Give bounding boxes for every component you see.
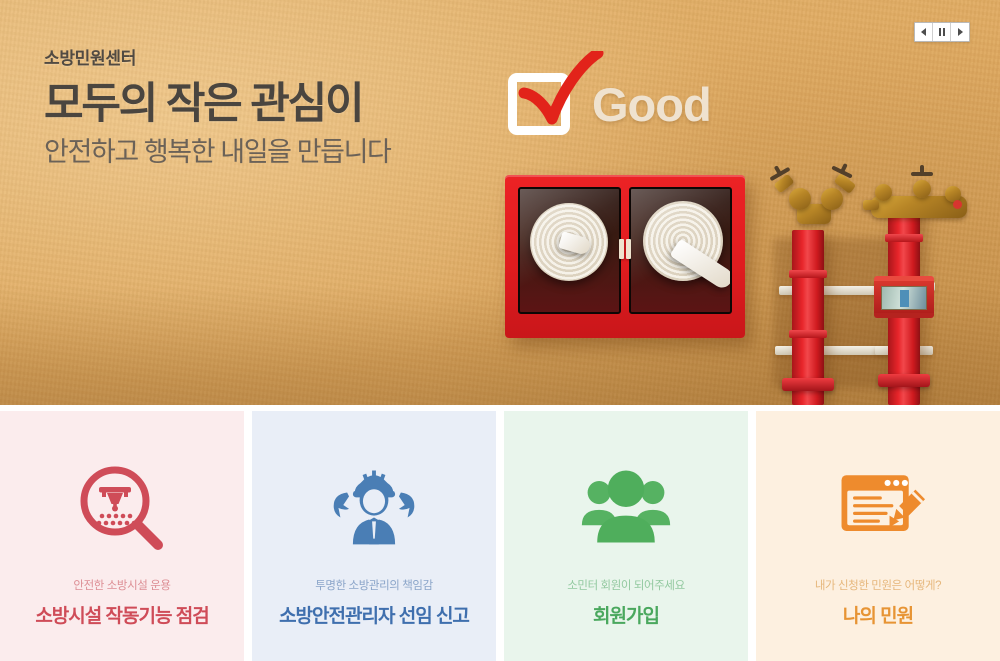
hero-banner: 소방민원센터 모두의 작은 관심이 안전하고 행복한 내일을 만듭니다 Good <box>0 0 1000 405</box>
hero-title: 모두의 작은 관심이 <box>44 82 390 127</box>
standpipe-right <box>888 200 920 405</box>
standpipe-left <box>792 230 824 405</box>
carousel-prev-button[interactable] <box>915 23 933 41</box>
brass-valve-right <box>869 174 971 224</box>
hero-text-block: 소방민원센터 모두의 작은 관심이 안전하고 행복한 내일을 만듭니다 <box>44 44 390 168</box>
card-title: 회원가입 <box>593 601 659 628</box>
card-title: 나의 민원 <box>843 601 913 628</box>
sprinkler-magnifier-icon <box>74 463 170 549</box>
safety-manager-icon <box>326 463 422 549</box>
brass-valve-left <box>773 168 853 230</box>
card-subtitle: 내가 신청한 민원은 어떻게? <box>815 577 941 593</box>
triangle-right-icon <box>958 28 963 36</box>
hero-kicker: 소방민원센터 <box>44 44 390 69</box>
fire-standpipes <box>765 160 980 405</box>
carousel-next-button[interactable] <box>951 23 969 41</box>
sight-glass <box>874 276 934 318</box>
fire-hose-cabinet <box>505 175 745 338</box>
card-subtitle: 투명한 소방관리의 책임감 <box>315 577 433 593</box>
cabinet-handle <box>626 239 631 259</box>
quick-link-cards: 안전한 소방시설 운용 소방시설 작동기능 점검 <box>0 411 1000 661</box>
card-my-complaint[interactable]: 내가 신청한 민원은 어떻게? 나의 민원 <box>756 411 1000 661</box>
checkbox-square-icon <box>508 73 570 135</box>
card-title: 소방시설 작동기능 점검 <box>35 601 208 628</box>
hero-subtitle: 안전하고 행복한 내일을 만듭니다 <box>44 138 390 168</box>
page-root: 소방민원센터 모두의 작은 관심이 안전하고 행복한 내일을 만듭니다 Good <box>0 0 1000 661</box>
carousel-controls[interactable] <box>914 22 970 42</box>
triangle-left-icon <box>921 28 926 36</box>
cabinet-door-left <box>518 187 621 314</box>
cabinet-handle <box>619 239 624 259</box>
card-manager-report[interactable]: 투명한 소방관리의 책임감 소방안전관리자 선임 신고 <box>252 411 496 661</box>
card-subtitle: 소민터 회원이 되어주세요 <box>567 577 685 593</box>
card-title: 소방안전관리자 선임 신고 <box>279 601 469 628</box>
good-wordmark: Good <box>592 77 711 132</box>
card-subtitle: 안전한 소방시설 운용 <box>73 577 170 593</box>
card-inspection[interactable]: 안전한 소방시설 운용 소방시설 작동기능 점검 <box>0 411 244 661</box>
carousel-pause-button[interactable] <box>933 23 951 41</box>
cabinet-door-right <box>629 187 732 314</box>
pause-icon <box>939 28 945 36</box>
card-signup[interactable]: 소민터 회원이 되어주세요 회원가입 <box>504 411 748 661</box>
people-group-icon <box>578 463 674 549</box>
red-checkmark-icon <box>518 51 604 131</box>
form-pencil-icon <box>830 463 926 549</box>
good-logo: Good <box>508 73 711 135</box>
